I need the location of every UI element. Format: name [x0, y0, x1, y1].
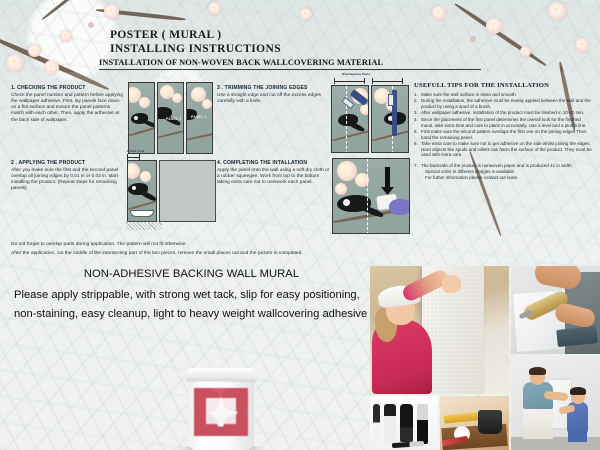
adhesive-tray: [130, 210, 154, 217]
tip-item: 6.Take extra care to make sure not to ge…: [414, 141, 592, 158]
page-title-line1: POSTER ( MURAL ): [110, 29, 281, 43]
mural-panel-2: PANEL 2: [157, 82, 184, 154]
tips-footer-line: For futher information please contact ou…: [414, 175, 592, 181]
tips-list: 1.Make sure the wall surface is clean an…: [414, 92, 592, 181]
man-hair: [529, 367, 546, 375]
gloved-hand-icon: [389, 199, 410, 215]
scraper-icon: [417, 404, 428, 444]
step-2-applying-the-product: 2 . APPLYING THE PRODUCT After you make …: [11, 160, 123, 193]
measurement-label: 0.4 inch / 1 cm: [127, 150, 144, 153]
step-1-checking-the-product: 1. CHECKING THE PRODUCT Check the panel …: [11, 85, 123, 124]
tip-text: First make sure the second pattern overl…: [421, 129, 587, 140]
step-2-title: 2 . APPLYING THE PRODUCT: [11, 160, 123, 166]
tip-text: Take extra care to make sure not to get …: [421, 141, 592, 158]
tip-text: Make sure the wall surface is clean and …: [421, 92, 517, 97]
mural-panel-3: PANEL 3: [186, 82, 213, 154]
brush-tool-icon: [373, 404, 380, 444]
cherry-blossom-icon: [60, 30, 72, 42]
diagram-step-1: PANEL 2 PANEL 3: [128, 82, 216, 156]
tip-text: The backside of the product is nonwoven …: [421, 163, 573, 168]
tip-number: 6.: [414, 141, 418, 147]
down-arrow-icon: [385, 167, 390, 189]
tip-item: 5.First make sure the second pattern ove…: [414, 129, 592, 141]
tip-number: 4.: [414, 117, 418, 123]
smoothing-brush-icon: [384, 404, 396, 444]
knife-icon: [392, 441, 424, 448]
tips-spacer: [414, 159, 592, 162]
photo-paste-table-with-tools: [440, 396, 509, 450]
child-hair: [570, 387, 586, 395]
tip-number: 2.: [414, 98, 418, 104]
description-body: Please apply strippable, with strong wet…: [14, 286, 369, 323]
panel-2-label: PANEL 2: [166, 117, 181, 121]
description-title: NON-ADHESIVE BACKING WALL MURAL: [14, 268, 369, 280]
diagram-step-4: [332, 158, 412, 236]
page-subtitle: INSTALLATION OF NON-WOVEN BACK WALLCOVER…: [99, 58, 481, 70]
yellow-tool: [444, 412, 479, 424]
tips-title: USEFULL TIPS FOR THE INSTALLATION: [414, 82, 592, 89]
cherry-blossom-icon: [28, 44, 41, 57]
photo-man-and-child-hanging-mural: [511, 356, 600, 450]
overlapping-parts-label: Overlapping Parts: [342, 72, 370, 76]
trim-panel-right: [371, 85, 409, 153]
diagram-step-2: 0.4 inch / 1 cm: [126, 150, 218, 238]
step-1-body: Check the panel number and pattern befor…: [11, 93, 123, 123]
trim-panel-left: [331, 85, 369, 153]
photo-wallpaper-tools: [370, 396, 438, 450]
tip-number: 5.: [414, 129, 418, 135]
note-line-1: Do not forget to overlap parts during ap…: [11, 240, 431, 249]
step-4-completing-the-installation: 4. COMPLETING THE INTALLATION Apply the …: [217, 160, 333, 186]
step-3-title: 3 . TRIMMING THE JOINING EDGES: [217, 85, 329, 91]
tip-number: 1.: [414, 92, 418, 98]
photo-hands-with-paste-roller: [511, 266, 600, 354]
bucket-lid: [186, 368, 256, 381]
tip-number: 3.: [414, 110, 418, 116]
panel-3-label: PANEL 3: [191, 115, 206, 119]
cherry-blossom-icon: [104, 4, 119, 19]
instruction-sheet: POSTER ( MURAL ) INSTALLING INSTRUCTIONS…: [0, 0, 600, 450]
cherry-blossom-icon: [432, 6, 446, 20]
mural-panel-1: [128, 82, 155, 154]
tips-footer-line: Special order in different designs is av…: [414, 169, 592, 175]
adhesive-bucket-image: [186, 368, 256, 450]
tip-text: Since the placement of the first panel d…: [421, 117, 587, 128]
cherry-bud-icon: [470, 36, 476, 42]
header-block: POSTER ( MURAL ) INSTALLING INSTRUCTIONS: [110, 29, 281, 56]
step-4-title: 4. COMPLETING THE INTALLATION: [217, 160, 333, 166]
step-3-body: Use a straight edge and cut off the exce…: [217, 93, 329, 105]
paste-bucket: [478, 410, 502, 434]
cherry-blossom-icon: [6, 54, 24, 72]
step-4-body: Apply the panel onto the wall using a so…: [217, 168, 333, 186]
floor-hatching: [126, 220, 162, 230]
bucket-label-center: [206, 398, 236, 424]
step-2-body: After you make sure the first and the se…: [11, 168, 123, 192]
tip-item: 7.The backside of the product is nonwove…: [414, 163, 592, 169]
cherry-blossom-icon: [486, 18, 502, 34]
diagram-step-3: Overlapping Parts: [330, 72, 412, 156]
tip-item: 1.Make sure the wall surface is clean an…: [414, 92, 592, 98]
step-3-trimming-the-joining-edges: 3 . TRIMMING THE JOINING EDGES Use a str…: [217, 85, 329, 105]
cherry-blossom-icon: [575, 38, 589, 52]
tips-block: USEFULL TIPS FOR THE INSTALLATION 1.Make…: [414, 82, 592, 182]
photo-woman-applying-wallpaper: [370, 266, 509, 394]
squeegee-icon: [400, 404, 413, 442]
bottom-notes: Do not forget to overlap parts during ap…: [11, 240, 431, 259]
man-legs: [523, 407, 553, 439]
tip-number: 7.: [414, 163, 418, 169]
cherry-blossom-icon: [208, 2, 221, 15]
note-line-2: After the application, cut the middle of…: [11, 249, 431, 258]
tip-text: After wallpaper adhesive, installation o…: [421, 110, 584, 115]
worker-arm-upper: [533, 266, 583, 291]
cherry-bud-icon: [88, 22, 94, 28]
cherry-blossom-icon: [520, 46, 531, 57]
photo-collage: [370, 266, 600, 450]
tip-text: During the installation, the adhesive mu…: [421, 98, 591, 109]
tip-item: 3.After wallpaper adhesive, installation…: [414, 110, 592, 116]
step-1-title: 1. CHECKING THE PRODUCT: [11, 85, 123, 91]
page-title-line2: INSTALLING INSTRUCTIONS: [110, 43, 281, 57]
product-description: NON-ADHESIVE BACKING WALL MURAL Please a…: [14, 268, 369, 323]
tip-item: 4.Since the placement of the first panel…: [414, 117, 592, 129]
cherry-blossom-icon: [548, 2, 566, 20]
smoothing-panel: [332, 158, 410, 234]
cherry-blossom-icon: [300, 8, 312, 20]
tip-item: 2.During the installation, the adhesive …: [414, 98, 592, 110]
wall-surface: [159, 160, 216, 222]
